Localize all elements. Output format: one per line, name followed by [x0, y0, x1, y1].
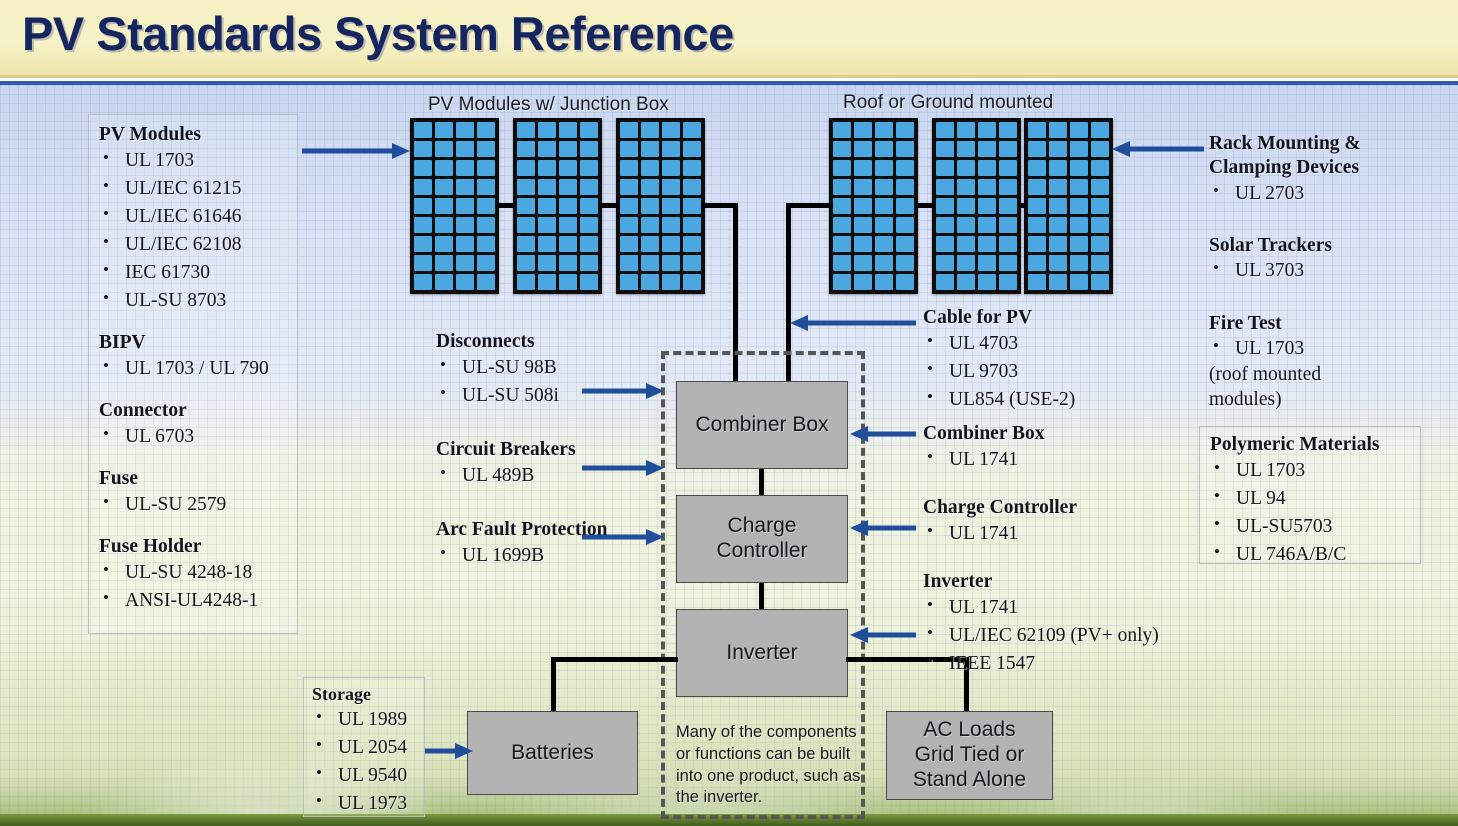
- heading-disconnects: Disconnects: [436, 330, 666, 354]
- solar-cell: [1070, 160, 1088, 176]
- solar-cell: [999, 255, 1017, 271]
- solar-cell: [1091, 217, 1109, 233]
- solar-cell: [559, 255, 577, 271]
- solar-cell: [1070, 179, 1088, 195]
- solar-cell: [1049, 255, 1067, 271]
- heading-solar-trackers: Solar Trackers: [1209, 234, 1441, 258]
- arrow-pv-modules-to-array: [302, 142, 410, 160]
- node-ac-loads-label-line2: Grid Tied or: [915, 743, 1025, 768]
- solar-cell: [833, 198, 851, 214]
- solar-cell: [580, 179, 598, 195]
- solar-cell: [683, 141, 701, 157]
- solar-cell: [456, 255, 474, 271]
- solar-cell: [1049, 217, 1067, 233]
- solar-cell: [414, 274, 432, 290]
- solar-cell: [683, 217, 701, 233]
- solar-cell: [517, 255, 535, 271]
- title-band: PV Standards System Reference: [0, 0, 1458, 78]
- pv-panel-left-2: [513, 118, 602, 294]
- solar-cell: [477, 274, 495, 290]
- solar-cell: [936, 179, 954, 195]
- solar-cell: [580, 217, 598, 233]
- solar-cell: [1091, 274, 1109, 290]
- solar-cell: [620, 217, 638, 233]
- list-item: IEEE 1547: [923, 650, 1183, 678]
- list-storage: UL 1989 UL 2054 UL 9540 UL 1973: [312, 706, 416, 818]
- heading-charge-controller: Charge Controller: [923, 496, 1183, 520]
- solar-cell: [559, 141, 577, 157]
- solar-cell: [854, 141, 872, 157]
- solar-cell: [957, 255, 975, 271]
- list-item: UL 4703: [923, 330, 1183, 358]
- left-standards-panel: PV Modules UL 1703 UL/IEC 61215 UL/IEC 6…: [88, 114, 298, 634]
- solar-cell: [683, 179, 701, 195]
- heading-inverter: Inverter: [923, 570, 1183, 594]
- wire-left-panel-2-3: [600, 203, 618, 208]
- solar-cell: [833, 141, 851, 157]
- solar-cell: [620, 274, 638, 290]
- solar-cell: [854, 236, 872, 252]
- solar-cell: [538, 198, 556, 214]
- wire-inverter-to-batteries-v: [551, 657, 556, 711]
- solar-cell: [414, 217, 432, 233]
- solar-cell: [414, 198, 432, 214]
- list-item: UL 1703: [1210, 457, 1410, 485]
- solar-cell: [854, 122, 872, 138]
- solar-cell: [1049, 122, 1067, 138]
- solar-cell: [999, 236, 1017, 252]
- list-item: IEC 61730: [99, 259, 287, 287]
- solar-cell: [517, 122, 535, 138]
- solar-cell: [517, 198, 535, 214]
- solar-cell: [662, 141, 680, 157]
- solar-cell: [620, 141, 638, 157]
- solar-cell: [1049, 198, 1067, 214]
- pv-panel-right-3: [1024, 118, 1113, 294]
- solar-cell: [620, 122, 638, 138]
- solar-cell: [456, 236, 474, 252]
- node-ac-loads-label-line1: AC Loads: [923, 718, 1015, 743]
- solar-cell: [957, 160, 975, 176]
- solar-cell: [517, 217, 535, 233]
- solar-cell: [620, 160, 638, 176]
- list-charge-controller: UL 1741: [923, 520, 1183, 548]
- solar-cell: [538, 274, 556, 290]
- solar-cell: [538, 236, 556, 252]
- solar-cell: [999, 122, 1017, 138]
- solar-cell: [538, 179, 556, 195]
- solar-cell: [1070, 198, 1088, 214]
- solar-cell: [477, 160, 495, 176]
- solar-cell: [641, 236, 659, 252]
- list-item: UL-SU5703: [1210, 513, 1410, 541]
- solar-cell: [641, 122, 659, 138]
- solar-cell: [620, 198, 638, 214]
- solar-cell: [559, 179, 577, 195]
- wire-right-panel-2-3: [1019, 203, 1026, 208]
- left-heading-pv-modules: PV Modules: [99, 123, 287, 147]
- solar-cell: [1028, 160, 1046, 176]
- left-list-connector: UL 6703: [99, 423, 287, 451]
- solar-cell: [517, 274, 535, 290]
- list-item: UL-SU 8703: [99, 287, 287, 315]
- solar-cell: [1070, 274, 1088, 290]
- node-ac-loads-label-line3: Stand Alone: [913, 768, 1026, 793]
- solar-cell: [896, 160, 914, 176]
- solar-cell: [875, 217, 893, 233]
- solar-cell: [683, 236, 701, 252]
- solar-cell: [435, 122, 453, 138]
- page-title: PV Standards System Reference: [22, 6, 734, 61]
- list-item: UL-SU 98B: [436, 354, 666, 382]
- list-item: UL 9540: [312, 762, 416, 790]
- solar-cell: [978, 217, 996, 233]
- solar-cell: [1091, 179, 1109, 195]
- wire-right-array-drop-top: [786, 203, 833, 208]
- wire-combiner-to-charge: [759, 469, 764, 495]
- solar-cell: [936, 236, 954, 252]
- list-item: UL 94: [1210, 485, 1410, 513]
- solar-cell: [957, 179, 975, 195]
- solar-cell: [414, 160, 432, 176]
- solar-cell: [1028, 122, 1046, 138]
- solar-cell: [662, 122, 680, 138]
- solar-cell: [517, 179, 535, 195]
- solar-cell: [456, 217, 474, 233]
- solar-cell: [1091, 122, 1109, 138]
- solar-cell: [456, 122, 474, 138]
- list-item: UL 6703: [99, 423, 287, 451]
- list-item: UL 1741: [923, 520, 1183, 548]
- solar-cell: [1028, 236, 1046, 252]
- solar-cell: [580, 255, 598, 271]
- solar-cell: [662, 179, 680, 195]
- polymeric-materials-panel: Polymeric Materials UL 1703 UL 94 UL-SU5…: [1199, 426, 1421, 564]
- solar-cell: [477, 179, 495, 195]
- solar-cell: [683, 122, 701, 138]
- solar-cell: [435, 236, 453, 252]
- list-item: UL/IEC 62109 (PV+ only): [923, 622, 1183, 650]
- solar-cell: [957, 217, 975, 233]
- solar-cell: [999, 198, 1017, 214]
- node-combiner-box[interactable]: Combiner Box: [676, 381, 848, 469]
- solar-cell: [896, 236, 914, 252]
- solar-cell: [559, 122, 577, 138]
- solar-cell: [957, 236, 975, 252]
- solar-cell: [957, 122, 975, 138]
- solar-cell: [875, 198, 893, 214]
- list-polymeric-materials: UL 1703 UL 94 UL-SU5703 UL 746A/B/C: [1210, 457, 1410, 569]
- wire-inverter-to-batteries-h: [551, 657, 678, 662]
- solar-cell: [683, 160, 701, 176]
- solar-cell: [683, 255, 701, 271]
- solar-cell: [833, 255, 851, 271]
- list-item: UL 746A/B/C: [1210, 541, 1410, 569]
- solar-cell: [538, 217, 556, 233]
- solar-cell: [1028, 217, 1046, 233]
- node-inverter[interactable]: Inverter: [676, 609, 848, 697]
- left-heading-connector: Connector: [99, 399, 287, 423]
- list-item: UL 1741: [923, 594, 1183, 622]
- list-item: UL/IEC 61215: [99, 175, 287, 203]
- heading-cable-for-pv: Cable for PV: [923, 306, 1183, 330]
- solar-cell: [559, 160, 577, 176]
- solar-cell: [1028, 179, 1046, 195]
- solar-cell: [896, 217, 914, 233]
- solar-cell: [896, 198, 914, 214]
- list-item: UL 1703: [99, 147, 287, 175]
- list-item: UL 3703: [1209, 257, 1441, 285]
- list-item: UL/IEC 62108: [99, 231, 287, 259]
- heading-storage: Storage: [312, 684, 416, 706]
- list-item: UL 1973: [312, 790, 416, 818]
- heading-rack-mounting: Rack Mounting & Clamping Devices: [1209, 132, 1441, 180]
- solar-cell: [620, 255, 638, 271]
- arrow-combiner-standards-to-node: [850, 425, 916, 443]
- solar-cell: [978, 274, 996, 290]
- solar-cell: [957, 141, 975, 157]
- pv-panel-right-2: [932, 118, 1021, 294]
- solar-cell: [477, 217, 495, 233]
- solar-cell: [435, 198, 453, 214]
- label-left-panel-group: PV Modules w/ Junction Box: [428, 94, 669, 116]
- solar-cell: [957, 274, 975, 290]
- solar-cell: [1028, 141, 1046, 157]
- left-heading-fuse-holder: Fuse Holder: [99, 535, 287, 559]
- list-item: ANSI-UL4248-1: [99, 587, 287, 615]
- solar-cell: [641, 274, 659, 290]
- solar-cell: [875, 236, 893, 252]
- node-charge-controller[interactable]: Charge Controller: [676, 495, 848, 583]
- solar-cell: [580, 122, 598, 138]
- solar-cell: [517, 141, 535, 157]
- solar-cell: [538, 141, 556, 157]
- pv-panel-left-1: [410, 118, 499, 294]
- solar-cell: [435, 160, 453, 176]
- list-item: UL-SU 2579: [99, 491, 287, 519]
- solar-cell: [477, 198, 495, 214]
- arrow-disconnects-to-combiner: [582, 382, 664, 400]
- solar-cell: [456, 179, 474, 195]
- solar-cell: [896, 179, 914, 195]
- solar-cell: [833, 122, 851, 138]
- storage-panel: Storage UL 1989 UL 2054 UL 9540 UL 1973: [303, 677, 425, 817]
- solar-cell: [456, 160, 474, 176]
- solar-cell: [559, 217, 577, 233]
- solar-cell: [662, 274, 680, 290]
- solar-cell: [1091, 198, 1109, 214]
- solar-cell: [936, 255, 954, 271]
- solar-cell: [875, 179, 893, 195]
- solar-cell: [683, 198, 701, 214]
- solar-cell: [517, 160, 535, 176]
- solar-cell: [978, 122, 996, 138]
- arrow-charge-standards-to-node: [850, 519, 916, 537]
- solar-cell: [414, 141, 432, 157]
- solar-cell: [1049, 274, 1067, 290]
- left-heading-bipv: BIPV: [99, 331, 287, 355]
- solar-cell: [559, 198, 577, 214]
- solar-cell: [896, 141, 914, 157]
- solar-cell: [435, 179, 453, 195]
- list-item: UL 2054: [312, 734, 416, 762]
- arrow-arc-fault-to-charge: [582, 528, 664, 546]
- solar-cell: [620, 179, 638, 195]
- solar-cell: [559, 274, 577, 290]
- solar-cell: [641, 255, 659, 271]
- solar-cell: [833, 274, 851, 290]
- solar-cell: [854, 179, 872, 195]
- solar-cell: [854, 255, 872, 271]
- wire-charge-to-inverter: [759, 583, 764, 609]
- list-fire-test: UL 1703: [1209, 335, 1441, 363]
- arrow-cable-for-pv: [790, 314, 916, 332]
- solar-cell: [978, 179, 996, 195]
- solar-cell: [875, 255, 893, 271]
- list-item: UL 9703: [923, 358, 1183, 386]
- left-list-fuse: UL-SU 2579: [99, 491, 287, 519]
- solar-cell: [854, 160, 872, 176]
- heading-combiner-box: Combiner Box: [923, 422, 1183, 446]
- wire-left-panel-1-2: [497, 203, 515, 208]
- list-item: UL 1741: [923, 446, 1183, 474]
- solar-cell: [456, 274, 474, 290]
- solar-cell: [978, 236, 996, 252]
- solar-cell: [517, 236, 535, 252]
- solar-cell: [854, 274, 872, 290]
- solar-cell: [580, 198, 598, 214]
- solar-cell: [936, 122, 954, 138]
- list-item: UL/IEC 61646: [99, 203, 287, 231]
- solar-cell: [875, 122, 893, 138]
- solar-cell: [414, 179, 432, 195]
- solar-cell: [580, 236, 598, 252]
- wire-right-panel-1-2: [916, 203, 934, 208]
- list-solar-trackers: UL 3703: [1209, 257, 1441, 285]
- solar-cell: [414, 236, 432, 252]
- solar-cell: [1028, 255, 1046, 271]
- list-item: UL 1703: [1209, 335, 1441, 363]
- label-right-panel-group: Roof or Ground mounted: [843, 92, 1053, 114]
- solar-cell: [559, 236, 577, 252]
- right-standards-group: Rack Mounting & Clamping Devices UL 2703…: [1209, 132, 1441, 413]
- solar-cell: [477, 255, 495, 271]
- solar-cell: [936, 217, 954, 233]
- solar-cell: [1049, 179, 1067, 195]
- left-list-bipv: UL 1703 / UL 790: [99, 355, 287, 383]
- solar-cell: [662, 198, 680, 214]
- solar-cell: [999, 274, 1017, 290]
- left-list-pv-modules: UL 1703 UL/IEC 61215 UL/IEC 61646 UL/IEC…: [99, 147, 287, 315]
- solar-cell: [875, 160, 893, 176]
- arrow-storage-to-batteries: [425, 742, 473, 760]
- solar-cell: [875, 141, 893, 157]
- solar-cell: [1091, 160, 1109, 176]
- node-combiner-box-label: Combiner Box: [695, 413, 828, 438]
- solar-cell: [978, 141, 996, 157]
- node-charge-controller-label-line1: Charge: [728, 514, 797, 539]
- solar-cell: [580, 160, 598, 176]
- mid-right-standards-group: Cable for PV UL 4703 UL 9703 UL854 (USE-…: [923, 306, 1183, 678]
- solar-cell: [1091, 255, 1109, 271]
- fire-test-note: (roof mounted modules): [1209, 363, 1379, 413]
- solar-cell: [978, 255, 996, 271]
- solar-cell: [957, 198, 975, 214]
- solar-cell: [896, 255, 914, 271]
- solar-cell: [833, 236, 851, 252]
- solar-cell: [538, 160, 556, 176]
- solar-cell: [662, 160, 680, 176]
- solar-cell: [1028, 198, 1046, 214]
- list-item: UL854 (USE-2): [923, 386, 1183, 414]
- pv-panel-left-3: [616, 118, 705, 294]
- solar-cell: [641, 198, 659, 214]
- solar-cell: [936, 198, 954, 214]
- solar-cell: [896, 274, 914, 290]
- pv-panel-right-1: [829, 118, 918, 294]
- node-charge-controller-label-line2: Controller: [716, 539, 807, 564]
- list-cable-for-pv: UL 4703 UL 9703 UL854 (USE-2): [923, 330, 1183, 414]
- arrow-rack-mounting-to-array: [1112, 140, 1204, 158]
- solar-cell: [435, 274, 453, 290]
- arrow-inverter-standards-to-node: [850, 626, 916, 644]
- list-item: UL-SU 4248-18: [99, 559, 287, 587]
- solar-cell: [414, 255, 432, 271]
- node-ac-loads[interactable]: AC Loads Grid Tied or Stand Alone: [886, 711, 1053, 800]
- solar-cell: [833, 160, 851, 176]
- solar-cell: [999, 179, 1017, 195]
- solar-cell: [999, 217, 1017, 233]
- solar-cell: [833, 179, 851, 195]
- diagram-canvas: PV Modules w/ Junction Box Roof or Groun…: [0, 81, 1458, 826]
- solar-cell: [978, 160, 996, 176]
- slide-root: PV Standards System Reference PV Modules…: [0, 0, 1458, 826]
- solar-cell: [1091, 141, 1109, 157]
- solar-cell: [1091, 236, 1109, 252]
- solar-cell: [875, 274, 893, 290]
- node-batteries-label: Batteries: [511, 741, 594, 766]
- solar-cell: [662, 217, 680, 233]
- solar-cell: [936, 160, 954, 176]
- heading-polymeric-materials: Polymeric Materials: [1210, 433, 1410, 457]
- solar-cell: [999, 141, 1017, 157]
- solar-cell: [1070, 141, 1088, 157]
- list-rack-mounting: UL 2703: [1209, 180, 1441, 208]
- solar-cell: [538, 122, 556, 138]
- arrow-circuit-breakers-to-combiner: [582, 459, 664, 477]
- solar-cell: [414, 122, 432, 138]
- solar-cell: [1049, 236, 1067, 252]
- solar-cell: [1028, 274, 1046, 290]
- integrated-product-note: Many of the components or functions can …: [676, 722, 862, 809]
- solar-cell: [896, 122, 914, 138]
- solar-cell: [620, 236, 638, 252]
- solar-cell: [936, 274, 954, 290]
- list-item: UL 2703: [1209, 180, 1441, 208]
- solar-cell: [978, 198, 996, 214]
- solar-cell: [854, 217, 872, 233]
- node-batteries[interactable]: Batteries: [467, 711, 638, 795]
- solar-cell: [435, 141, 453, 157]
- solar-cell: [435, 255, 453, 271]
- solar-cell: [641, 179, 659, 195]
- solar-cell: [641, 160, 659, 176]
- solar-cell: [477, 236, 495, 252]
- solar-cell: [477, 122, 495, 138]
- solar-cell: [580, 274, 598, 290]
- solar-cell: [833, 217, 851, 233]
- solar-cell: [1070, 217, 1088, 233]
